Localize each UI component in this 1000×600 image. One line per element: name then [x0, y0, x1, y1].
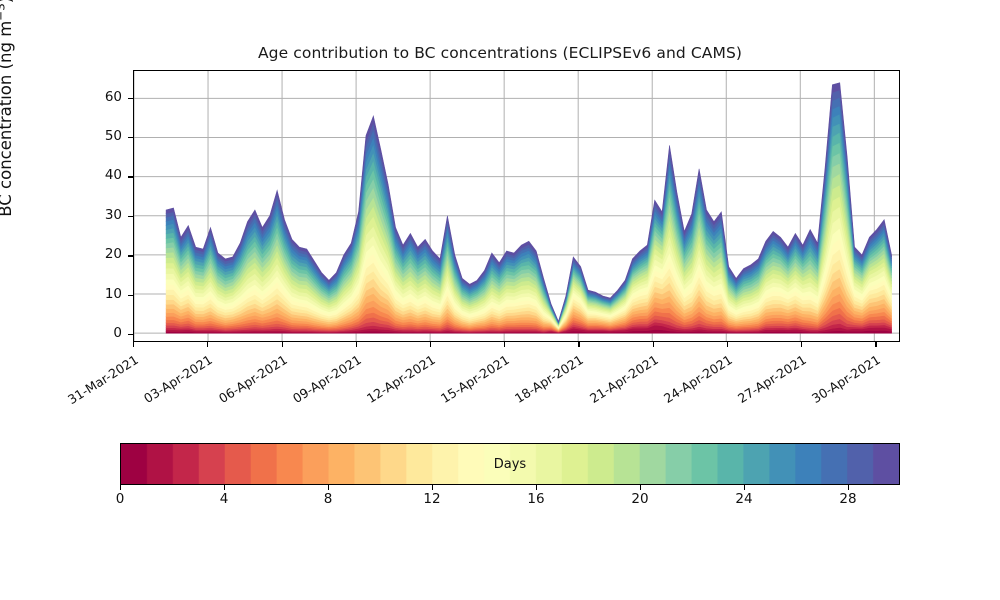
colorbar-tick-label: 4 — [204, 491, 244, 507]
x-tick-mark — [504, 342, 505, 347]
y-tick-mark — [128, 137, 133, 138]
x-tick-mark — [282, 342, 283, 347]
y-tick-label: 20 — [82, 246, 122, 262]
figure-canvas: Age contribution to BC concentrations (E… — [0, 0, 1000, 600]
x-tick-mark — [430, 342, 431, 347]
y-tick-mark — [128, 334, 133, 335]
x-tick-mark — [653, 342, 654, 347]
y-tick-label: 0 — [82, 325, 122, 341]
y-tick-mark — [128, 255, 133, 256]
y-tick-label: 10 — [82, 286, 122, 302]
y-tick-label: 30 — [82, 207, 122, 223]
colorbar-tick-label: 0 — [100, 491, 140, 507]
x-tick-mark — [727, 342, 728, 347]
y-tick-label: 50 — [82, 128, 122, 144]
colorbar-tick-mark — [744, 485, 745, 490]
x-tick-mark — [801, 342, 802, 347]
stacked-area-series — [134, 71, 899, 341]
colorbar[interactable] — [120, 443, 900, 485]
x-tick-mark — [133, 342, 134, 347]
y-tick-mark — [128, 216, 133, 217]
plot-area — [133, 70, 900, 342]
y-axis-title-exponent: −3 — [0, 3, 7, 21]
colorbar-tick-label: 24 — [724, 491, 764, 507]
y-axis-title-close: ) — [0, 0, 15, 3]
y-axis-title: BC concentration (ng m−3) — [0, 0, 15, 297]
colorbar-tick-label: 28 — [828, 491, 868, 507]
colorbar-tick-mark — [432, 485, 433, 490]
colorbar-tick-label: 16 — [516, 491, 556, 507]
colorbar-tick-mark — [640, 485, 641, 490]
colorbar-tick-label: 12 — [412, 491, 452, 507]
y-tick-mark — [128, 98, 133, 99]
y-tick-mark — [128, 176, 133, 177]
x-tick-mark — [875, 342, 876, 347]
colorbar-tick-mark — [848, 485, 849, 490]
x-tick-mark — [356, 342, 357, 347]
y-tick-mark — [128, 295, 133, 296]
colorbar-tick-label: 8 — [308, 491, 348, 507]
colorbar-tick-mark — [120, 485, 121, 490]
colorbar-tick-mark — [328, 485, 329, 490]
colorbar-gradient — [121, 444, 899, 484]
x-tick-mark — [578, 342, 579, 347]
x-tick-mark — [207, 342, 208, 347]
colorbar-tick-mark — [224, 485, 225, 490]
y-tick-label: 60 — [82, 89, 122, 105]
chart-title: Age contribution to BC concentrations (E… — [0, 44, 1000, 62]
colorbar-tick-label: 20 — [620, 491, 660, 507]
colorbar-tick-mark — [536, 485, 537, 490]
y-tick-label: 40 — [82, 167, 122, 183]
y-axis-title-main: BC concentration (ng m — [0, 21, 15, 217]
